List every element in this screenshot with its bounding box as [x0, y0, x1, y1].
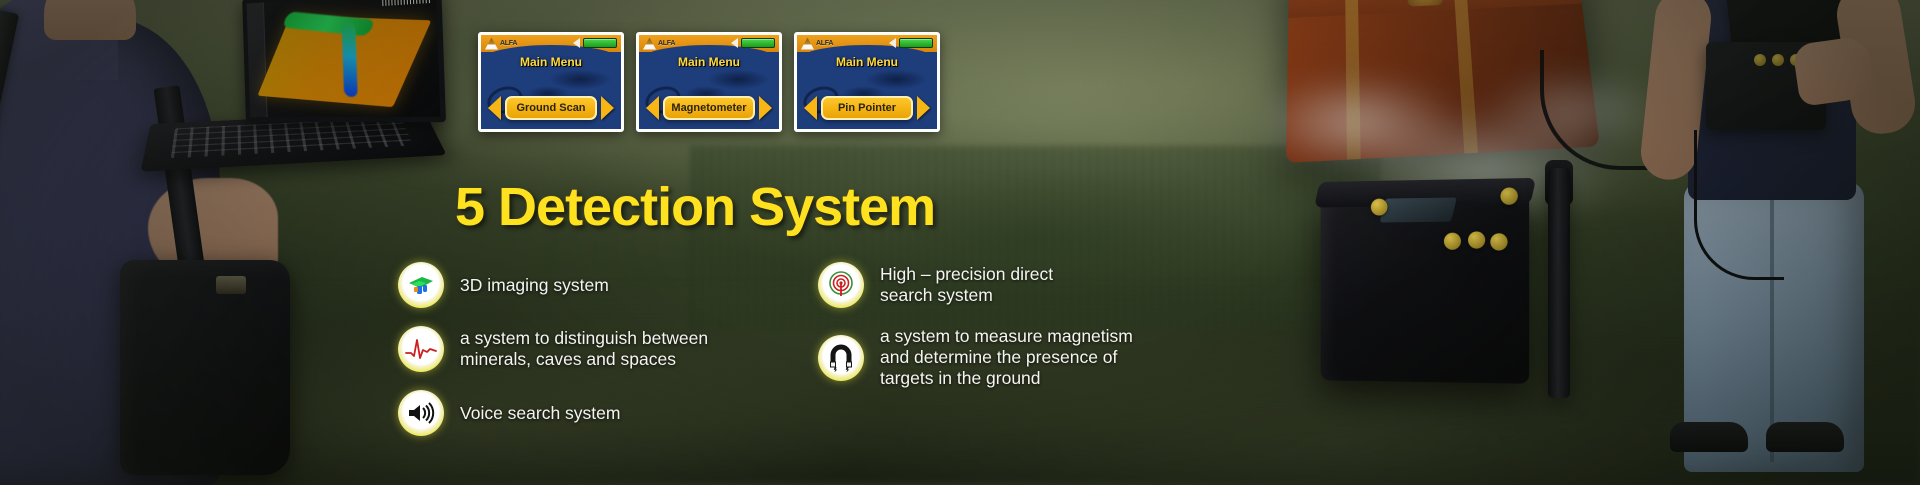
unit-connector — [1772, 54, 1784, 66]
right-operator-shoe — [1766, 422, 1844, 452]
menu-card-ground-scan[interactable]: ALFA Main Menu Ground Scan — [478, 32, 624, 132]
feature-item-mineral-distinction: a system to distinguish between minerals… — [398, 326, 798, 372]
feature-column-right: High – precision direct search system a … — [818, 262, 1288, 407]
unit-cable — [1694, 130, 1784, 280]
battery-full-icon — [583, 38, 617, 48]
left-operator-neck — [44, 0, 136, 40]
mode-label-ground-scan[interactable]: Ground Scan — [505, 96, 597, 120]
feature-label: Voice search system — [460, 403, 620, 424]
next-mode-arrow-icon[interactable] — [917, 96, 930, 120]
feature-item-3d-imaging: 3D imaging system — [398, 262, 798, 308]
card-title: Main Menu — [481, 55, 621, 69]
3d-terrain-icon — [398, 262, 444, 308]
chest-band — [1452, 0, 1478, 154]
card-status-area — [889, 38, 933, 48]
brand-logo-text: ALFA — [658, 40, 675, 47]
prev-mode-arrow-icon[interactable] — [804, 96, 817, 120]
magnet-icon — [818, 335, 864, 381]
laptop-keyboard — [171, 117, 413, 158]
mode-selector-row: Pin Pointer — [797, 96, 937, 120]
speaker-icon — [889, 38, 896, 48]
mode-label-pin-pointer[interactable]: Pin Pointer — [821, 96, 913, 120]
brand-logo-text: ALFA — [816, 40, 833, 47]
mountain-logo-icon — [485, 38, 498, 50]
right-operator — [1648, 0, 1920, 485]
right-operator-shoe — [1670, 422, 1748, 452]
promo-banner: ALFA Main Menu Ground Scan ALFA — [0, 0, 1920, 485]
page-title: 5 Detection System — [455, 176, 935, 238]
detector-connector — [1444, 233, 1461, 250]
brand-logo: ALFA — [643, 36, 687, 51]
card-status-area — [731, 38, 775, 48]
mountain-logo-icon — [643, 38, 656, 50]
prev-mode-arrow-icon[interactable] — [488, 96, 501, 120]
next-mode-arrow-icon[interactable] — [601, 96, 614, 120]
speaker-icon — [731, 38, 738, 48]
mode-selector-row: Ground Scan — [481, 96, 621, 120]
device-screen-cards: ALFA Main Menu Ground Scan ALFA — [478, 32, 940, 132]
battery-full-icon — [899, 38, 933, 48]
brand-logo: ALFA — [801, 36, 845, 51]
next-mode-arrow-icon[interactable] — [759, 96, 772, 120]
feature-item-magnetism: a system to measure magnetism and determ… — [818, 326, 1288, 389]
feature-label: High – precision direct search system — [880, 264, 1053, 306]
card-title: Main Menu — [639, 55, 779, 69]
unit-connector — [1754, 54, 1766, 66]
laptop-software-toolbar — [247, 2, 268, 117]
mode-selector-row: Magnetometer — [639, 96, 779, 120]
detector-connector — [1490, 233, 1507, 250]
speaker-sound-icon — [398, 390, 444, 436]
laptop-3d-scan — [148, 0, 448, 182]
prev-mode-arrow-icon[interactable] — [646, 96, 659, 120]
mode-label-magnetometer[interactable]: Magnetometer — [663, 96, 755, 120]
laptop-barcode-label — [382, 0, 430, 6]
scan-anomaly-blue — [342, 22, 358, 97]
detector-display — [1380, 197, 1457, 222]
card-status-area — [573, 38, 617, 48]
brand-logo: ALFA — [485, 36, 529, 51]
detector-search-pole — [1548, 168, 1570, 398]
feature-label: 3D imaging system — [460, 275, 609, 296]
speaker-icon — [573, 38, 580, 48]
feature-item-direct-search: High – precision direct search system — [818, 262, 1288, 308]
feature-column-left: 3D imaging system a system to distinguis… — [398, 262, 798, 454]
bag-buckle — [216, 276, 246, 294]
chest-band — [1345, 0, 1361, 160]
card-title: Main Menu — [797, 55, 937, 69]
menu-card-pin-pointer[interactable]: ALFA Main Menu Pin Pointer — [794, 32, 940, 132]
mountain-logo-icon — [801, 38, 814, 50]
menu-card-magnetometer[interactable]: ALFA Main Menu Magnetometer — [636, 32, 782, 132]
feature-item-voice-search: Voice search system — [398, 390, 798, 436]
brand-logo-text: ALFA — [500, 40, 517, 47]
detector-main-unit — [1321, 190, 1530, 384]
detector-connector — [1468, 231, 1485, 248]
feature-label: a system to measure magnetism and determ… — [880, 326, 1133, 389]
feature-label: a system to distinguish between minerals… — [460, 328, 708, 370]
detector-connector — [1371, 199, 1388, 216]
battery-full-icon — [741, 38, 775, 48]
equipment-bag — [120, 260, 290, 475]
antenna-signal-icon — [818, 262, 864, 308]
pulse-waveform-icon — [398, 326, 444, 372]
laptop-screen — [242, 0, 446, 122]
